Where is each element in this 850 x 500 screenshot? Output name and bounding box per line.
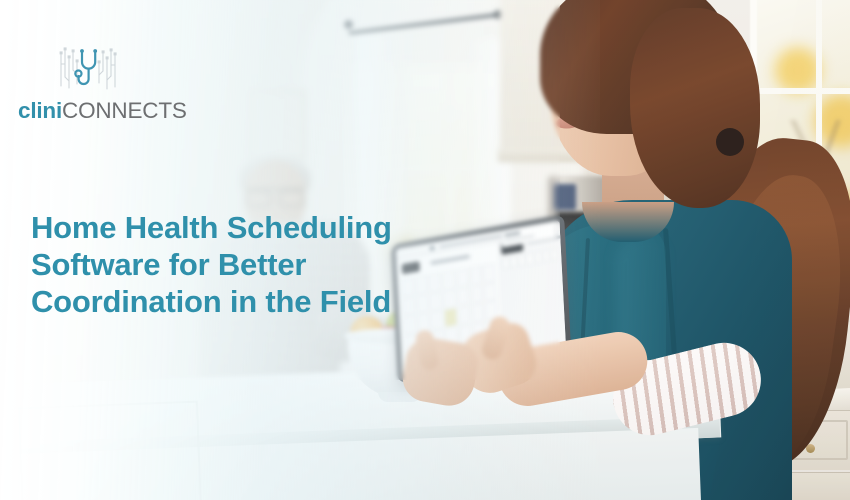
headline-line-2: Software for Better bbox=[31, 246, 501, 283]
stethoscope-circuit-icon bbox=[58, 46, 118, 92]
nurse-hair-side bbox=[630, 8, 760, 208]
nurse-hair-tie bbox=[716, 128, 744, 156]
headline-line-3: Coordination in the Field bbox=[31, 283, 501, 320]
page-title: Home Health Scheduling Software for Bett… bbox=[31, 209, 501, 320]
brand-wordmark: cliniCONNECTS bbox=[18, 98, 188, 124]
brand-logo[interactable]: cliniCONNECTS bbox=[18, 46, 188, 130]
wordmark-secondary: CONNECTS bbox=[62, 98, 187, 123]
wordmark-primary: clini bbox=[18, 98, 62, 123]
headline-line-1: Home Health Scheduling bbox=[31, 209, 501, 246]
hero-banner: cliniCONNECTS Home Health Scheduling Sof… bbox=[0, 0, 850, 500]
